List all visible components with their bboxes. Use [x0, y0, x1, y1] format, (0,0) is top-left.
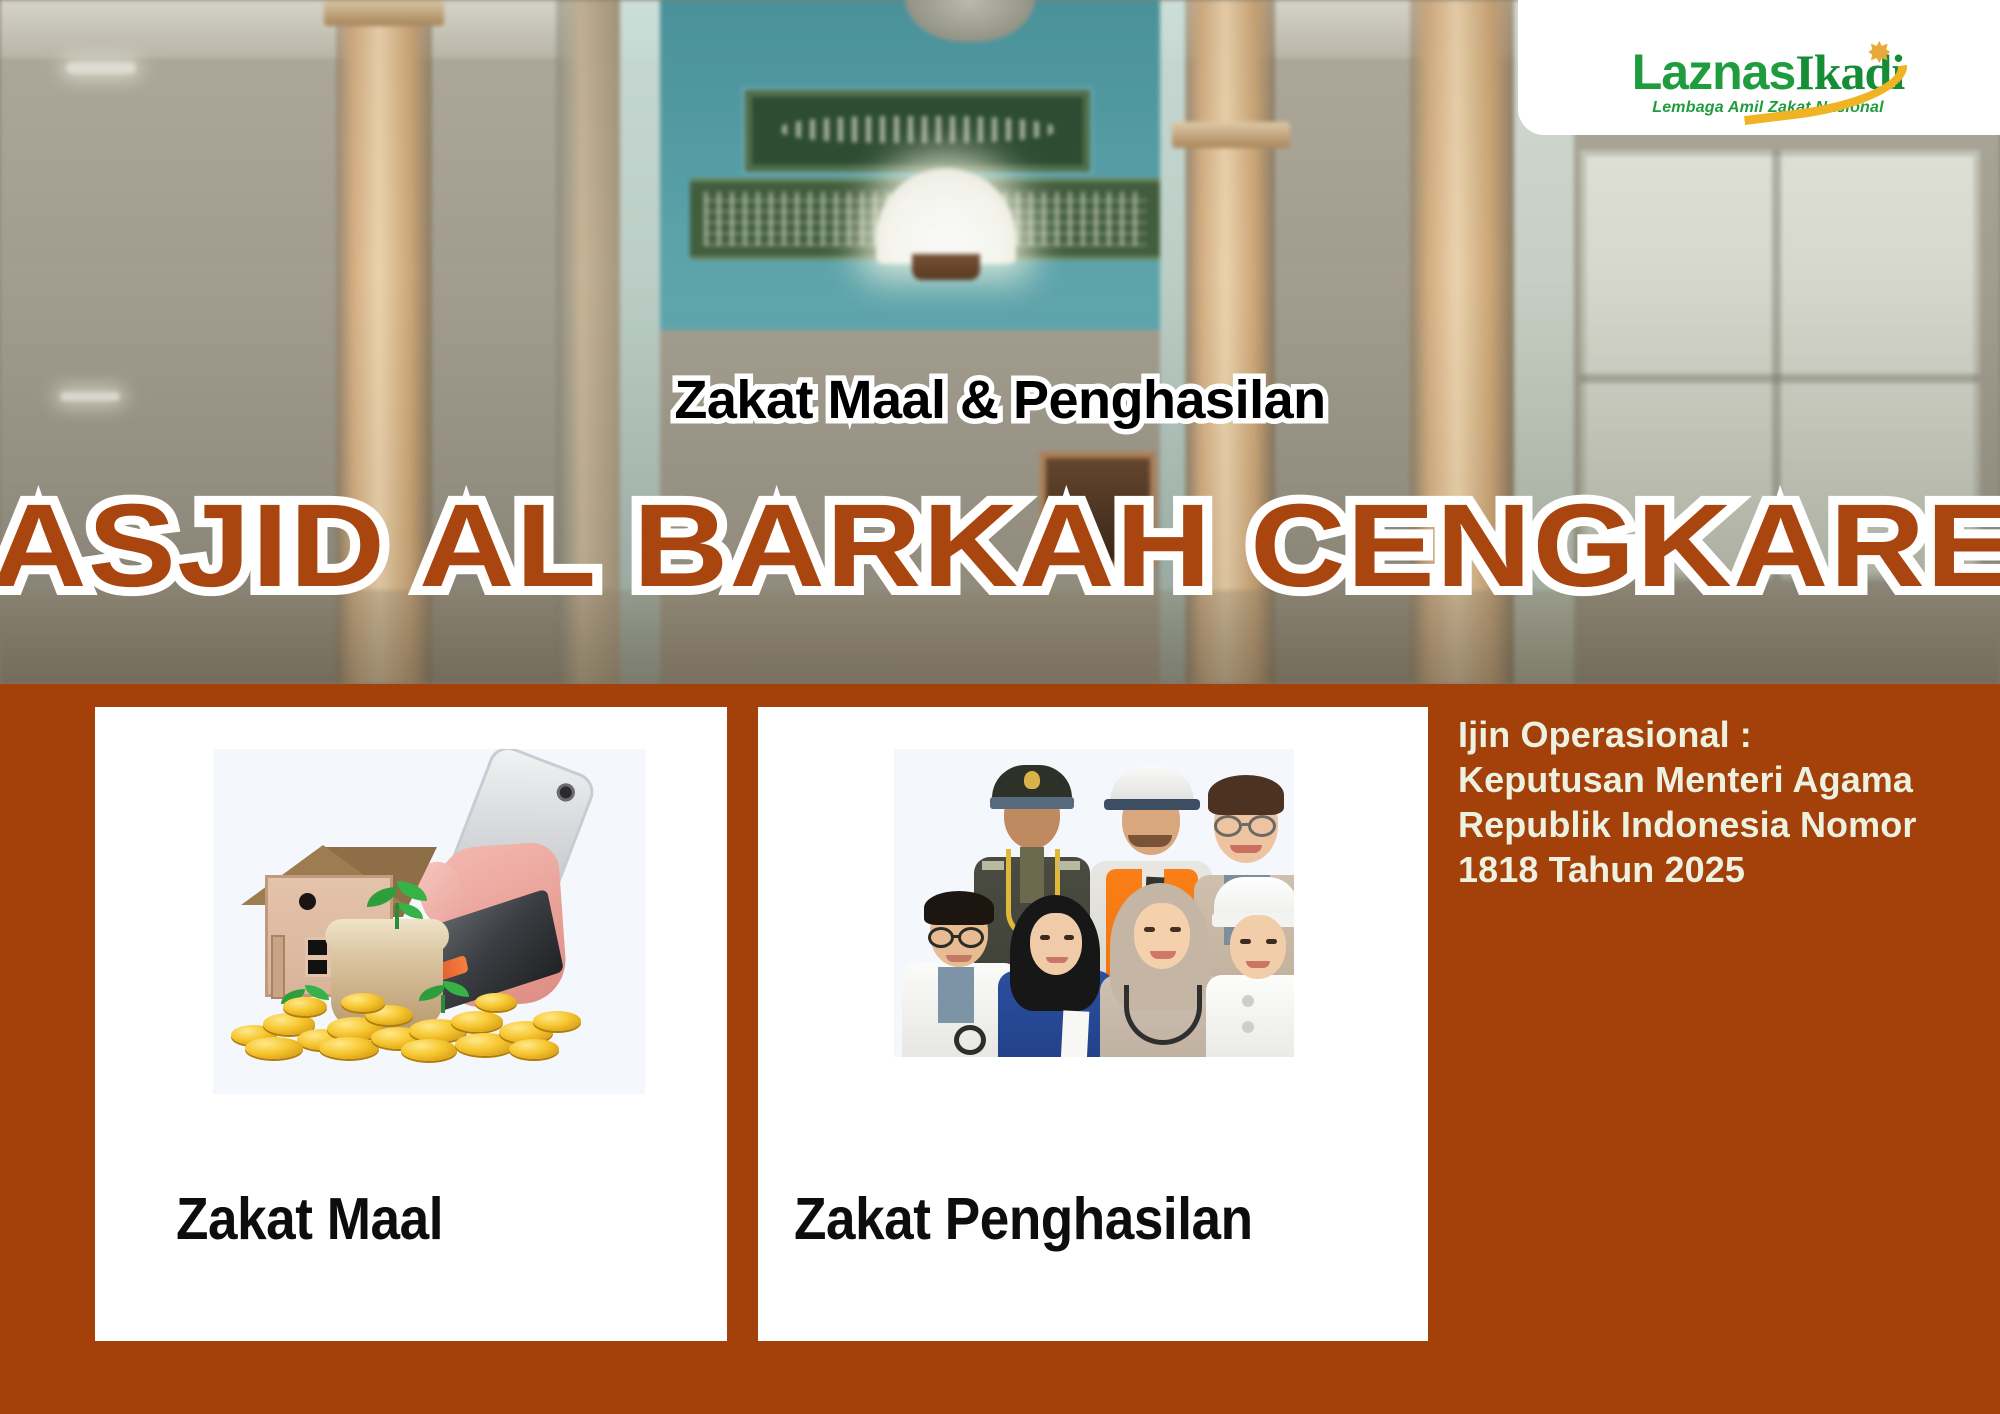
permit-line-2: Keputusan Menteri Agama [1458, 757, 1968, 802]
money-sack-tie [325, 919, 449, 953]
logo-name-part-1: Laznas [1632, 44, 1796, 100]
logo-wrap: LaznasIkadi Lembaga Amil Zakat Nasional [1632, 47, 1904, 117]
stem [395, 903, 399, 929]
permit-line-4: 1818 Tahun 2025 [1458, 847, 1968, 892]
card-zakat-penghasilan[interactable]: Zakat Penghasilan [758, 707, 1428, 1341]
zakat-penghasilan-illustration [894, 749, 1294, 1057]
phone-camera-icon [554, 781, 577, 804]
gold-coins-pile [223, 977, 589, 1063]
card-label-zakat-maal: Zakat Maal [95, 1185, 664, 1253]
poster-root: Zakat Maal & Penghasilan MASJID AL BARKA… [0, 0, 2000, 1414]
laznas-ikadi-logo-card: LaznasIkadi Lembaga Amil Zakat Nasional [1518, 0, 2000, 135]
permit-line-3: Republik Indonesia Nomor [1458, 802, 1968, 847]
poster-title: MASJID AL BARKAH CENGKARENG [0, 487, 2000, 605]
house-vent-icon [299, 893, 316, 910]
card-zakat-maal[interactable]: Zakat Maal [95, 707, 727, 1341]
star-ornament-icon [1868, 41, 1890, 63]
operational-permit-text: Ijin Operasional : Keputusan Menteri Aga… [1458, 712, 1968, 892]
logo-wordmark: LaznasIkadi [1632, 47, 1904, 97]
zakat-maal-illustration [213, 749, 645, 1094]
professionals-group-photo [894, 749, 1294, 1057]
permit-line-1: Ijin Operasional : [1458, 712, 1968, 757]
house-coins-phone-illustration [213, 749, 645, 1094]
poster-subtitle: Zakat Maal & Penghasilan [0, 373, 2000, 427]
card-label-zakat-penghasilan: Zakat Penghasilan [758, 1185, 1361, 1253]
logo-tagline: Lembaga Amil Zakat Nasional [1632, 99, 1904, 117]
